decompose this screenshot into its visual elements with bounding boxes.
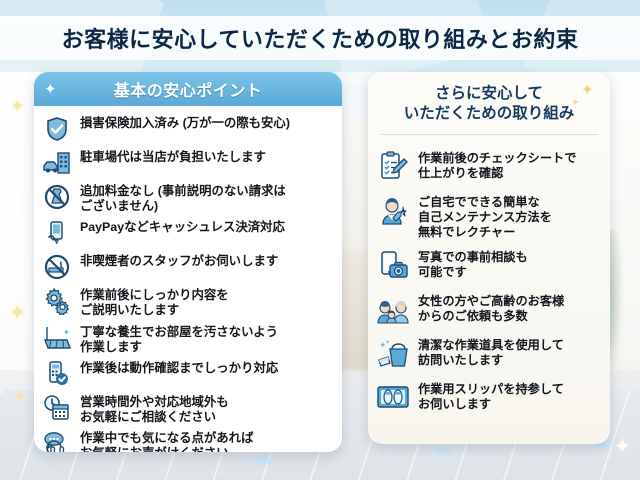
basic-points-header-label: 基本の安心ポイント bbox=[114, 77, 263, 101]
car-building-icon bbox=[42, 148, 72, 178]
list-item-label: 清潔な作業道具を使用して 訪問いたします bbox=[418, 336, 564, 368]
list-item: 写真での事前相談も 可能です bbox=[376, 244, 600, 288]
sparkle-icon: ✦ bbox=[8, 300, 26, 326]
sparkle-icon: ✦ bbox=[44, 80, 57, 98]
extra-efforts-header-line1: さらに安心して bbox=[378, 84, 600, 104]
list-item-label: 丁寧な養生でお部屋を汚さないよう 作業します bbox=[80, 323, 278, 355]
list-item-label: ご自宅でできる簡単な 自己メンテナンス方法を 無料でレクチャー bbox=[418, 193, 552, 240]
list-item: 作業後は動作確認までしっかり対応 bbox=[42, 357, 332, 391]
list-item: 作業用スリッパを持参して お伺いします bbox=[376, 376, 600, 420]
no-smoking-icon bbox=[42, 252, 72, 282]
no-extra-fee-icon bbox=[42, 182, 72, 212]
list-item: 女性の方やご高齢のお客様 からのご依頼も多数 bbox=[376, 288, 600, 332]
list-item-label: 非喫煙者のスタッフがお伺いします bbox=[80, 252, 278, 269]
floor-glow bbox=[430, 446, 456, 456]
slippers-icon bbox=[376, 380, 410, 414]
basic-points-header: ✦ 基本の安心ポイント bbox=[34, 72, 342, 106]
extra-efforts-list: 作業前後のチェックシートで 仕上がりを確認 ご自宅でできる簡単な 自己メンテナン… bbox=[368, 139, 610, 424]
list-item-label: 追加料金なし (事前説明のない請求は ございません) bbox=[80, 182, 286, 214]
sparkle-icon: ✦ bbox=[581, 80, 594, 100]
sparkle-icon: ✦ bbox=[10, 96, 25, 117]
list-item-label: 作業前後にしっかり内容を ご説明いたします bbox=[80, 286, 229, 318]
list-item-label: 写真での事前相談も 可能です bbox=[418, 248, 528, 280]
sparkle-icon: ✦ bbox=[571, 96, 580, 109]
sparkle-icon: ✦ bbox=[14, 388, 27, 406]
list-item: PayPayなどキャッシュレス決済対応 bbox=[42, 216, 332, 250]
extra-efforts-header: ✦ ✦ さらに安心して いただくための取り組み bbox=[368, 72, 610, 132]
list-item: 営業時間外や対応地域外も お気軽にご相談ください bbox=[42, 391, 332, 427]
remote-check-icon bbox=[42, 359, 72, 389]
clipboard-pen-icon bbox=[376, 149, 410, 183]
family-icon bbox=[376, 292, 410, 326]
sparkle-icon: ✦ bbox=[614, 434, 631, 459]
list-item: 駐車場代は当店が負担いたします bbox=[42, 146, 332, 180]
chat-headset-icon bbox=[42, 429, 72, 452]
floor-protect-icon: ✦ bbox=[42, 323, 72, 353]
list-item-label: PayPayなどキャッシュレス決済対応 bbox=[80, 218, 285, 235]
list-item-label: 作業用スリッパを持参して お伺いします bbox=[418, 380, 564, 412]
cashless-pay-icon bbox=[42, 218, 72, 248]
list-item: ✦✦ 清潔な作業道具を使用して 訪問いたします bbox=[376, 332, 600, 376]
phone-camera-icon bbox=[376, 248, 410, 282]
promise-banner: ✦ ✦ ✦ ✦ お客様に安心していただくための取り組みとお約束 ✦ 基本の安心ポ… bbox=[0, 0, 640, 480]
page-title: お客様に安心していただくための取り組みとお約束 bbox=[62, 22, 579, 54]
clean-bucket-icon: ✦✦ bbox=[376, 336, 410, 370]
list-item-label: 損害保険加入済み (万が一の際も安心) bbox=[80, 114, 290, 131]
floor-glow bbox=[250, 456, 276, 466]
page-title-bar: お客様に安心していただくための取り組みとお約束 bbox=[0, 16, 640, 60]
list-item-label: 女性の方やご高齢のお客様 からのご依頼も多数 bbox=[418, 292, 564, 324]
list-item-label: 作業中でも気になる点があれば お気軽にお声がけください bbox=[80, 429, 253, 452]
shield-check-icon bbox=[42, 114, 72, 144]
list-item: 損害保険加入済み (万が一の際も安心) bbox=[42, 112, 332, 146]
header-divider bbox=[380, 134, 598, 135]
list-item: ご自宅でできる簡単な 自己メンテナンス方法を 無料でレクチャー bbox=[376, 189, 600, 244]
list-item-label: 営業時間外や対応地域外も お気軽にご相談ください bbox=[80, 393, 229, 425]
extra-efforts-card: ✦ ✦ さらに安心して いただくための取り組み 作業前後のチェックシートで 仕上… bbox=[368, 72, 610, 444]
svg-text:✦: ✦ bbox=[385, 339, 390, 346]
technician-icon bbox=[376, 193, 410, 227]
svg-text:✦: ✦ bbox=[63, 328, 70, 337]
basic-points-card: ✦ 基本の安心ポイント 損害保険加入済み (万が一の際も安心) 駐車場代は当店が… bbox=[34, 72, 342, 452]
list-item-label: 駐車場代は当店が負担いたします bbox=[80, 148, 266, 165]
list-item-label: 作業後は動作確認までしっかり対応 bbox=[80, 359, 278, 376]
list-item: 追加料金なし (事前説明のない請求は ございません) bbox=[42, 180, 332, 216]
clock-calendar-icon bbox=[42, 393, 72, 423]
basic-points-list: 損害保険加入済み (万が一の際も安心) 駐車場代は当店が負担いたします 追加料金… bbox=[34, 106, 342, 452]
list-item: 作業中でも気になる点があれば お気軽にお声がけください bbox=[42, 427, 332, 452]
gears-icon bbox=[42, 286, 72, 316]
list-item: 作業前後にしっかり内容を ご説明いたします bbox=[42, 284, 332, 320]
list-item-label: 作業前後のチェックシートで 仕上がりを確認 bbox=[418, 149, 576, 181]
list-item: 非喫煙者のスタッフがお伺いします bbox=[42, 250, 332, 284]
extra-efforts-header-line2: いただくための取り組み bbox=[378, 104, 600, 124]
list-item: 作業前後のチェックシートで 仕上がりを確認 bbox=[376, 145, 600, 189]
list-item: ✦ 丁寧な養生でお部屋を汚さないよう 作業します bbox=[42, 321, 332, 357]
